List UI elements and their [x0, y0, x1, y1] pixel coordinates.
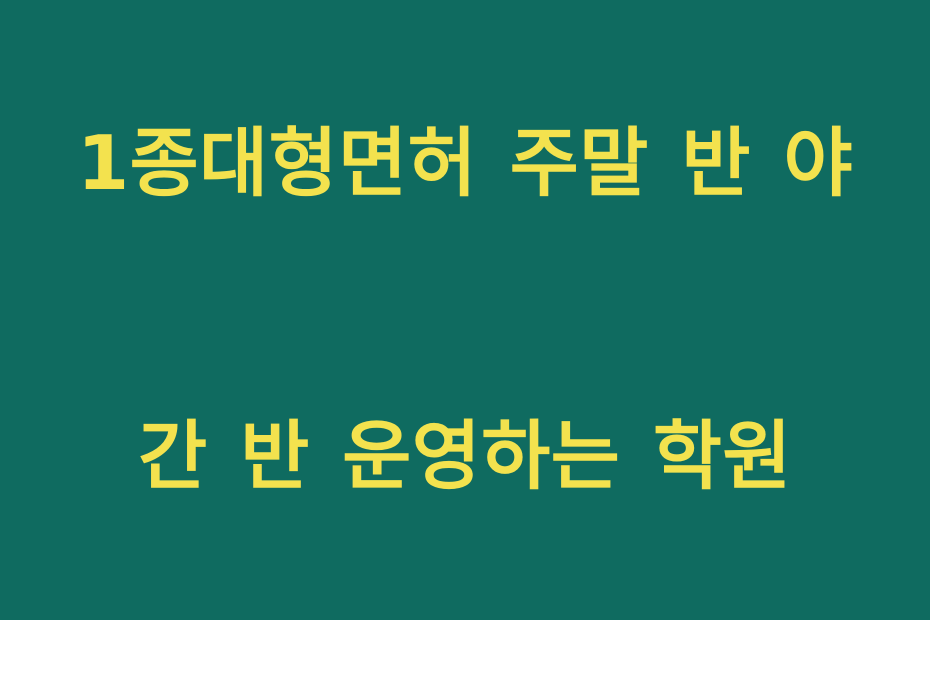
- text-banner: 1종대형면허 주말 반 야 간 반 운영하는 학원: [0, 0, 930, 620]
- headline-line-2: 간 반 운영하는 학원: [55, 408, 875, 506]
- headline-line-1: 1종대형면허 주말 반 야: [55, 115, 875, 213]
- headline-text: 1종대형면허 주말 반 야 간 반 운영하는 학원: [55, 0, 875, 700]
